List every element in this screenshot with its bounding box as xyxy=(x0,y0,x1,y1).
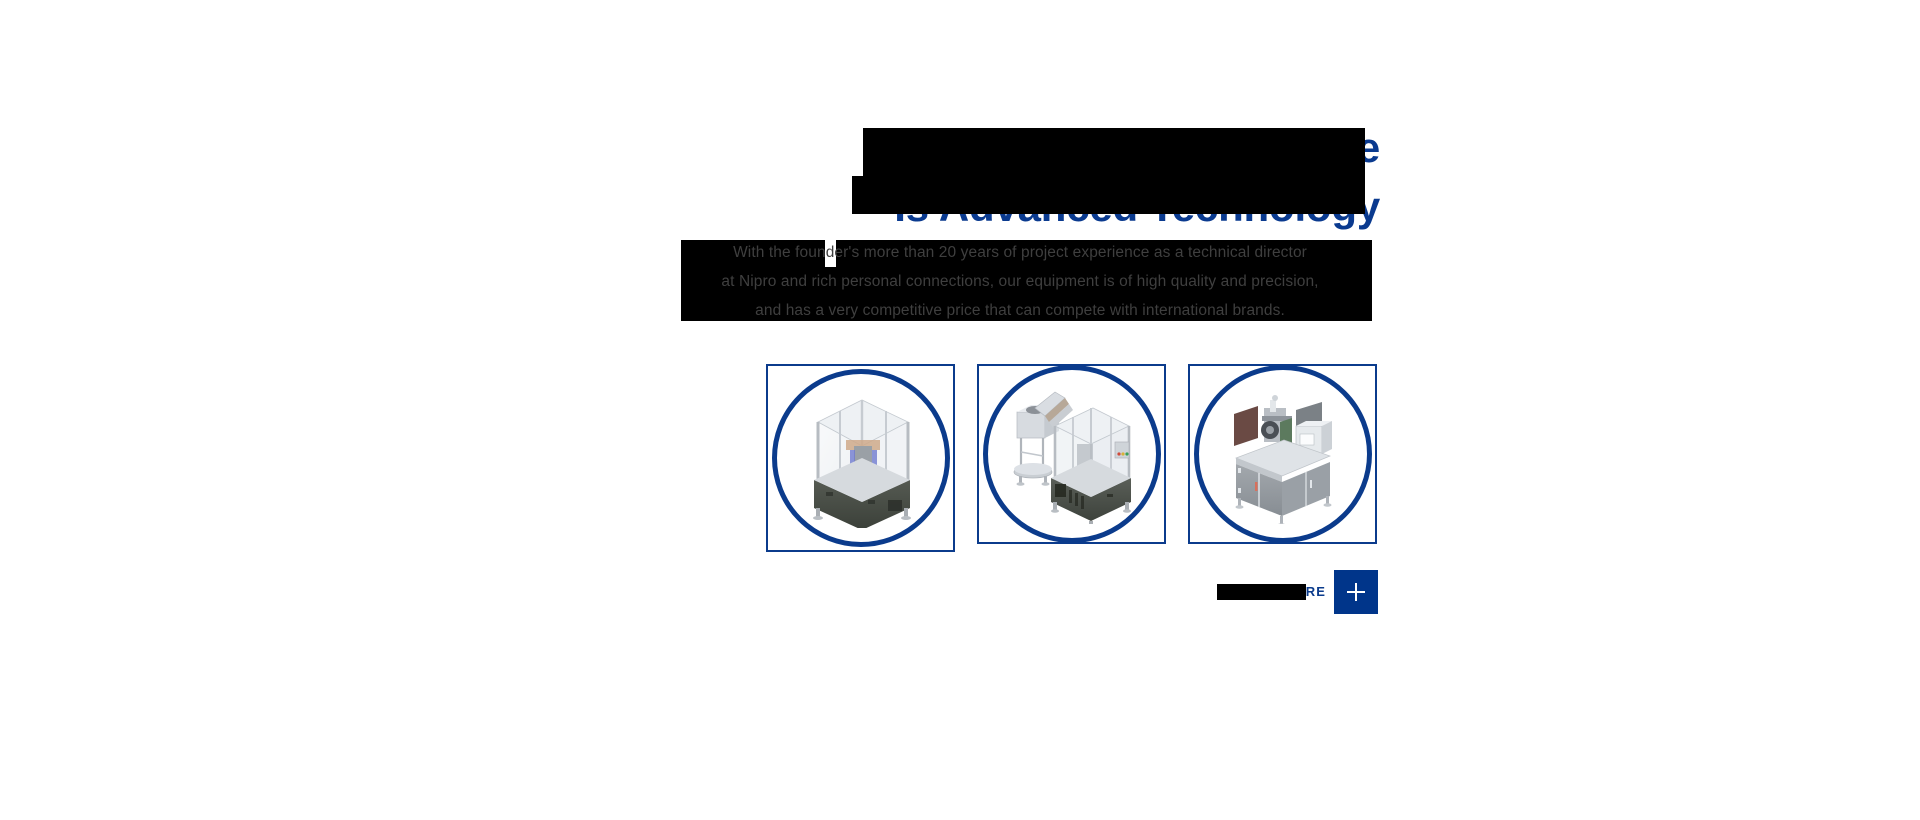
section-paragraph: With the founder's more than 20 years of… xyxy=(660,238,1380,325)
read-more-occlusion-bar xyxy=(1217,584,1306,600)
plus-icon xyxy=(1346,582,1366,602)
machine-card-list xyxy=(766,364,1378,552)
machine-card-2[interactable] xyxy=(977,364,1166,544)
machine-image-1 xyxy=(796,388,926,528)
read-more-plus-button[interactable] xyxy=(1334,570,1378,614)
heading-occlusion-bar-top xyxy=(863,128,1365,176)
paragraph-line-2: at Nipro and rich personal connections, … xyxy=(660,267,1380,296)
machine-card-3[interactable] xyxy=(1188,364,1377,544)
paragraph-line-3: and has a very competitive price that ca… xyxy=(660,296,1380,325)
machine-image-2 xyxy=(1007,384,1137,524)
advantage-section: Our Advantage Is Advanced Technology Wit… xyxy=(0,0,1920,820)
machine-card-1[interactable] xyxy=(766,364,955,552)
machine-image-3 xyxy=(1218,384,1348,524)
heading-occlusion-bar-bottom xyxy=(852,176,1365,214)
paragraph-line-1: With the founder's more than 20 years of… xyxy=(660,238,1380,267)
